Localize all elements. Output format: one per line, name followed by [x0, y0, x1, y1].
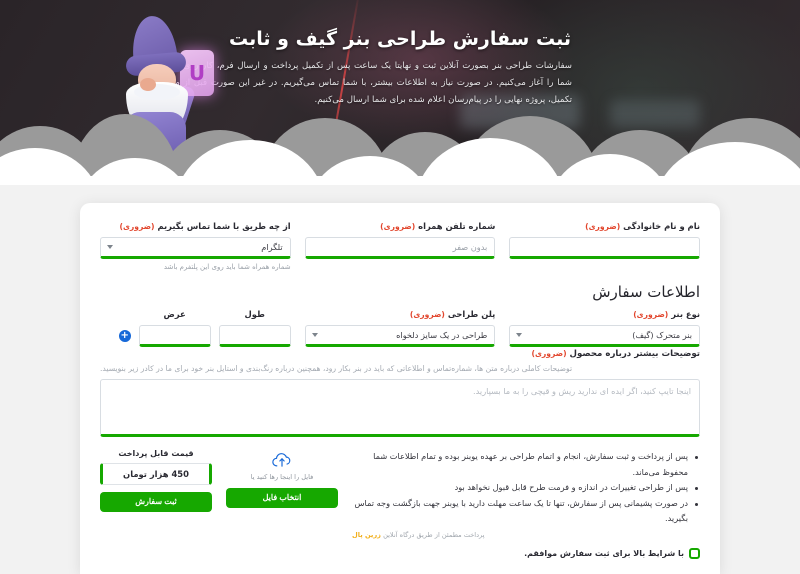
field-dimensions: طول عرض +: [100, 309, 291, 347]
mobile-required-tag: (ضروری): [380, 222, 415, 231]
contact-method-required-tag: (ضروری): [119, 222, 154, 231]
banner-type-label-text: نوع بنر: [671, 309, 700, 319]
list-item: پس از پرداخت و ثبت سفارش، انجام و اتمام …: [352, 449, 700, 480]
agreement-label: با شرایط بالا برای ثبت سفارش موافقم.: [524, 549, 684, 558]
bottom-section: پس از پرداخت و ثبت سفارش، انجام و اتمام …: [100, 449, 700, 559]
dimensions-wrapper: طول عرض +: [100, 309, 291, 347]
file-uploader[interactable]: فایل را اینجا رها کنید یا انتخاب فایل: [226, 449, 338, 508]
fullname-label-text: نام و نام خانوادگی: [623, 221, 700, 231]
field-contact-method: از چه طریق با شما تماس بگیریم (ضروری) تل…: [100, 221, 291, 271]
list-item: پس از طراحی تغییرات در اندازه و فرمت طرح…: [352, 480, 700, 496]
contact-method-hint: شماره همراه شما باید روی این پلتفرم باشد: [100, 263, 291, 271]
cloud-decoration: [0, 96, 800, 185]
design-plan-label: پلن طراحی (ضروری): [305, 309, 496, 319]
gateway-note-prefix: پرداخت مطمئن از طریق درگاه آنلاین: [381, 531, 485, 539]
banner-type-select[interactable]: بنر متحرک (گیف): [509, 325, 700, 347]
page-root: ثبت سفارش طراحی بنر گیف و ثابت سفارشات ط…: [0, 0, 800, 574]
order-info-section-title: اطلاعات سفارش: [100, 283, 700, 301]
contact-info-row: نام و نام خانوادگی (ضروری) شماره تلفن هم…: [100, 221, 700, 271]
agreement-row: با شرایط بالا برای ثبت سفارش موافقم.: [352, 548, 700, 559]
terms-list: پس از پرداخت و ثبت سفارش، انجام و اتمام …: [352, 449, 700, 527]
contact-method-label: از چه طریق با شما تماس بگیریم (ضروری): [100, 221, 291, 231]
fullname-label: نام و نام خانوادگی (ضروری): [509, 221, 700, 231]
terms-list-container: پس از پرداخت و ثبت سفارش، انجام و اتمام …: [352, 449, 700, 559]
field-length: طول: [219, 309, 291, 347]
design-plan-select[interactable]: طراحی در یک سایز دلخواه: [305, 325, 496, 347]
payment-amount: 450 هزار تومان: [100, 463, 212, 485]
submit-order-button[interactable]: ثبت سفارش: [100, 492, 212, 512]
fullname-required-tag: (ضروری): [585, 222, 620, 231]
field-fullname: نام و نام خانوادگی (ضروری): [509, 221, 700, 271]
design-plan-value: طراحی در یک سایز دلخواه: [396, 330, 487, 340]
design-plan-label-text: پلن طراحی: [448, 309, 496, 319]
contact-method-select[interactable]: تلگرام: [100, 237, 291, 259]
banner-type-required-tag: (ضروری): [633, 310, 668, 319]
design-plan-required-tag: (ضروری): [410, 310, 445, 319]
mobile-input-placeholder: بدون صفر: [453, 242, 488, 252]
file-drop-text: فایل را اینجا رها کنید یا: [226, 473, 338, 481]
description-required-tag: (ضروری): [531, 349, 566, 358]
order-form-card: نام و نام خانوادگی (ضروری) شماره تلفن هم…: [80, 203, 720, 574]
upload-cloud-icon: [271, 451, 293, 469]
agreement-checkbox[interactable]: [689, 548, 700, 559]
banner-type-label: نوع بنر (ضروری): [509, 309, 700, 319]
field-mobile: شماره تلفن همراه (ضروری) بدون صفر: [305, 221, 496, 271]
field-design-plan: پلن طراحی (ضروری) طراحی در یک سایز دلخوا…: [305, 309, 496, 347]
contact-method-label-text: از چه طریق با شما تماس بگیریم: [157, 221, 290, 231]
gnome-nose: [140, 78, 156, 91]
field-banner-type: نوع بنر (ضروری) بنر متحرک (گیف): [509, 309, 700, 347]
length-input[interactable]: [219, 325, 291, 347]
fullname-input[interactable]: [509, 237, 700, 259]
add-size-button[interactable]: +: [119, 330, 131, 342]
payment-panel: قیمت قابل پرداخت 450 هزار تومان ثبت سفار…: [100, 449, 212, 512]
choose-file-button[interactable]: انتخاب فایل: [226, 488, 338, 508]
mobile-input[interactable]: بدون صفر: [305, 237, 496, 259]
gateway-name: زرین پال: [352, 531, 381, 539]
width-label: عرض: [139, 309, 211, 319]
description-placeholder: اینجا تایپ کنید، اگر ایده ای ندارید ریش …: [473, 386, 691, 396]
length-label: طول: [219, 309, 291, 319]
payment-gateway-note: پرداخت مطمئن از طریق درگاه آنلاین زرین پ…: [352, 531, 700, 539]
field-width: عرض: [139, 309, 211, 347]
contact-method-value: تلگرام: [261, 242, 282, 252]
hero-banner: ثبت سفارش طراحی بنر گیف و ثابت سفارشات ط…: [0, 0, 800, 185]
description-label-text: توضیحات بیشتر درباره محصول: [570, 349, 700, 359]
payment-label: قیمت قابل پرداخت: [100, 449, 212, 458]
mobile-label: شماره تلفن همراه (ضروری): [305, 221, 496, 231]
chevron-down-icon: [516, 333, 522, 337]
width-input[interactable]: [139, 325, 211, 347]
order-specs-row: نوع بنر (ضروری) بنر متحرک (گیف) پلن طراح…: [100, 309, 700, 347]
chevron-down-icon: [312, 333, 318, 337]
mobile-label-text: شماره تلفن همراه: [418, 221, 495, 231]
description-textarea[interactable]: اینجا تایپ کنید، اگر ایده ای ندارید ریش …: [100, 379, 700, 437]
description-label: توضیحات بیشتر درباره محصول (ضروری): [100, 349, 700, 359]
list-item: در صورت پشیمانی پس از سفارش، تنها تا یک …: [352, 496, 700, 527]
chevron-down-icon: [107, 245, 113, 249]
description-hint: توضیحات کاملی درباره متن ها، شماره‌تماس …: [100, 364, 700, 373]
banner-type-value: بنر متحرک (گیف): [632, 330, 692, 340]
